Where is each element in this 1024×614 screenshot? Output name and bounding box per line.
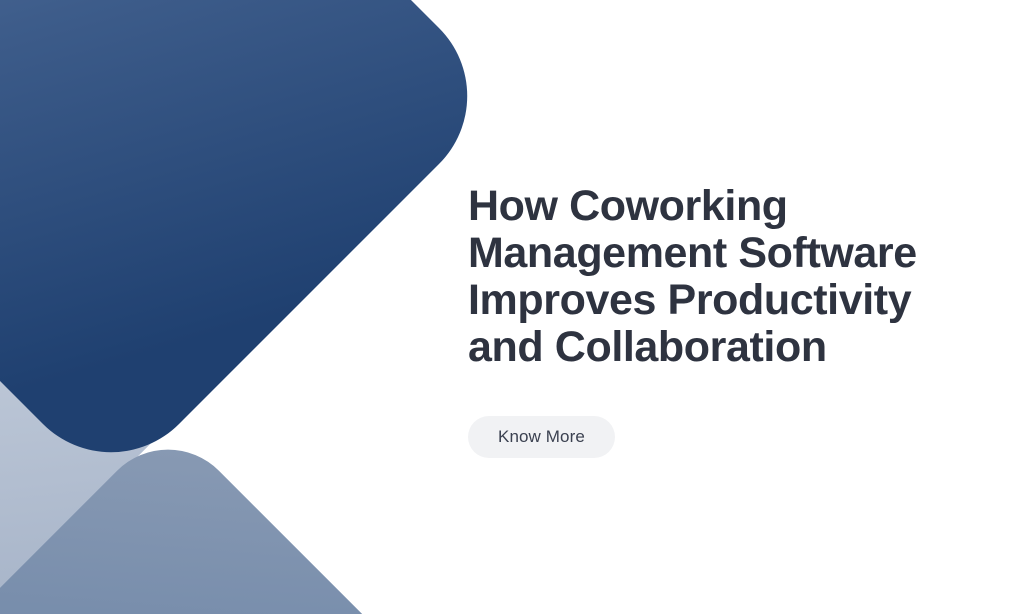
content-column: How Coworking Management Software Improv… [468,183,968,458]
large-navy-rounded-square [0,0,507,492]
pale-blue-rounded-square [0,151,200,614]
page-title: How Coworking Management Software Improv… [468,183,968,371]
cta-container: Know More [468,416,968,458]
know-more-button[interactable]: Know More [468,416,615,458]
slate-blue-rounded-square [0,420,462,614]
hero-banner: How Coworking Management Software Improv… [0,0,1024,614]
